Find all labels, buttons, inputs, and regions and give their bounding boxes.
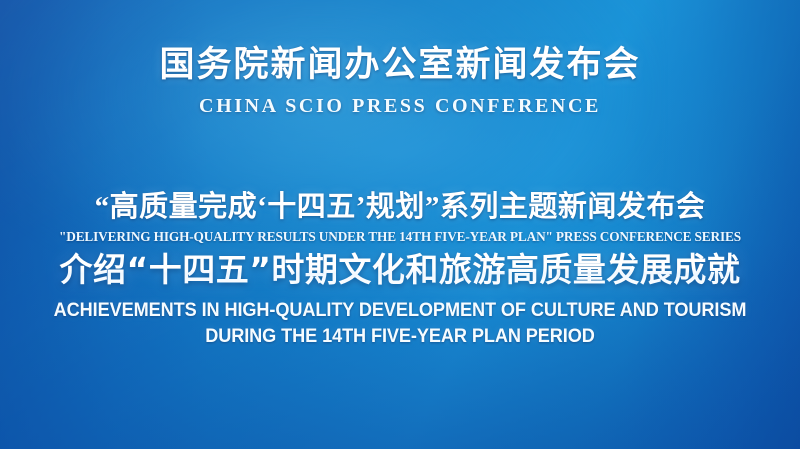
banner-content: 国务院新闻办公室新闻发布会 CHINA SCIO PRESS CONFERENC… xyxy=(0,0,800,449)
press-conference-banner: 国务院新闻办公室新闻发布会 CHINA SCIO PRESS CONFERENC… xyxy=(0,0,800,449)
banner-header: 国务院新闻办公室新闻发布会 CHINA SCIO PRESS CONFERENC… xyxy=(0,45,800,118)
banner-main: “高质量完成‘十四五’规划”系列主题新闻发布会 "DELIVERING HIGH… xyxy=(0,190,800,350)
topic-title-english-line-2: DURING THE 14TH FIVE-YEAR PLAN PERIOD xyxy=(28,324,772,350)
series-title-english: "DELIVERING HIGH-QUALITY RESULTS UNDER T… xyxy=(6,229,794,245)
series-title-chinese: “高质量完成‘十四五’规划”系列主题新闻发布会 xyxy=(0,190,800,224)
organization-title-english: CHINA SCIO PRESS CONFERENCE xyxy=(0,95,800,118)
topic-title-english: ACHIEVEMENTS IN HIGH-QUALITY DEVELOPMENT… xyxy=(28,298,772,349)
topic-title-english-line-1: ACHIEVEMENTS IN HIGH-QUALITY DEVELOPMENT… xyxy=(28,298,772,324)
organization-title-chinese: 国务院新闻办公室新闻发布会 xyxy=(0,45,800,85)
topic-title-chinese: 介绍“十四五”时期文化和旅游高质量发展成就 xyxy=(0,252,800,289)
